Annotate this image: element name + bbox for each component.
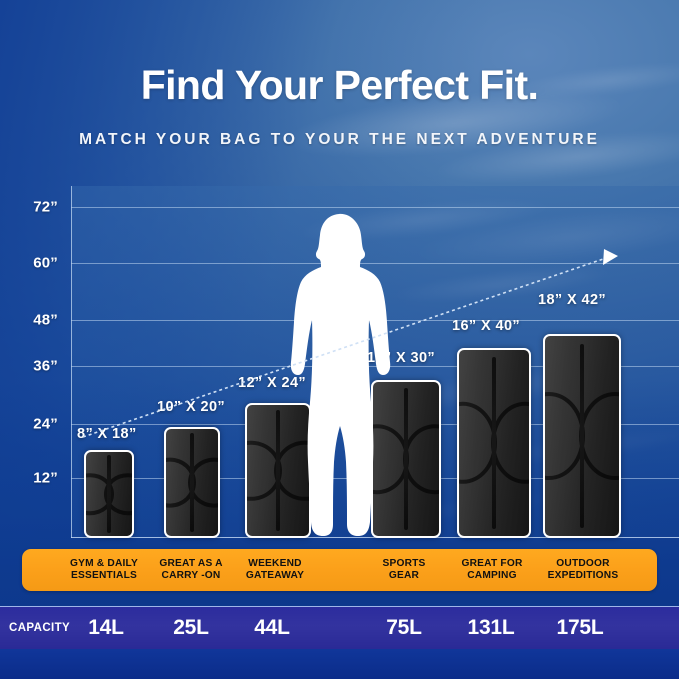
- bag-sheen-4: [459, 350, 529, 536]
- y-axis-tick-3: 36”: [33, 358, 58, 375]
- category-line2-0: ESSENTIALS: [71, 570, 137, 583]
- category-line1-5: OUTDOOR: [556, 558, 609, 571]
- capacity-band: CAPACITY 14L25L44L75L131L175L: [0, 606, 679, 650]
- bag-size-label-3: 14” X 30”: [367, 350, 435, 366]
- bag-bar-1[interactable]: [164, 427, 220, 538]
- infographic-root: Find Your Perfect Fit. MATCH YOUR BAG TO…: [0, 0, 679, 679]
- y-axis-tick-4: 24”: [33, 416, 58, 433]
- capacity-label: CAPACITY: [9, 622, 70, 634]
- y-axis-tick-1: 60”: [33, 255, 58, 272]
- bag-size-label-5: 18” X 42”: [538, 292, 606, 308]
- bag-size-label-4: 16” X 40”: [452, 318, 520, 334]
- y-axis-labels: 72”60”48”36”24”12”: [0, 186, 66, 538]
- category-line1-2: WEEKEND: [248, 558, 301, 571]
- bag-size-label-1: 10” X 20”: [157, 399, 225, 415]
- category-cell-5[interactable]: OUTDOOREXPEDITIONS: [528, 549, 638, 591]
- category-line1-4: GREAT FOR: [461, 558, 522, 571]
- category-line1-3: SPORTS: [382, 558, 425, 571]
- bag-size-label-2: 12” X 24”: [238, 375, 306, 391]
- category-line2-3: GEAR: [389, 570, 419, 583]
- bag-size-label-0: 8” X 18”: [77, 426, 137, 442]
- category-cell-2[interactable]: WEEKENDGATEAWAY: [220, 549, 330, 591]
- category-line2-2: GATEAWAY: [246, 570, 304, 583]
- capacity-value-0: 14L: [88, 616, 124, 640]
- bag-sheen-1: [166, 429, 218, 536]
- capacity-value-5: 175L: [556, 616, 603, 640]
- bar-chart: 8” X 18”10” X 20”12” X 24”14” X 30”16” X…: [71, 186, 679, 538]
- gridline-1: [71, 263, 679, 264]
- category-line2-4: CAMPING: [467, 570, 517, 583]
- bag-sheen-3: [373, 382, 439, 536]
- bag-bar-4[interactable]: [457, 348, 531, 538]
- bag-sheen-2: [247, 405, 309, 536]
- category-line1-1: GREAT AS A: [159, 558, 222, 571]
- bag-sheen-0: [86, 452, 132, 536]
- bag-bar-5[interactable]: [543, 334, 621, 538]
- bag-bar-0[interactable]: [84, 450, 134, 538]
- y-axis-line: [71, 186, 72, 538]
- page-subtitle: MATCH YOUR BAG TO YOUR THE NEXT ADVENTUR…: [0, 131, 679, 149]
- category-bar: GYM & DAILYESSENTIALSGREAT AS ACARRY -ON…: [22, 549, 657, 591]
- bag-sheen-5: [545, 336, 619, 536]
- y-axis-tick-0: 72”: [33, 199, 58, 216]
- capacity-value-1: 25L: [173, 616, 209, 640]
- page-title: Find Your Perfect Fit.: [0, 62, 679, 109]
- bag-bar-3[interactable]: [371, 380, 441, 538]
- bag-bar-2[interactable]: [245, 403, 311, 538]
- gridline-0: [71, 207, 679, 208]
- capacity-value-3: 75L: [386, 616, 422, 640]
- y-axis-tick-5: 12”: [33, 470, 58, 487]
- category-line2-1: CARRY -ON: [162, 570, 221, 583]
- capacity-value-4: 131L: [467, 616, 514, 640]
- capacity-value-2: 44L: [254, 616, 290, 640]
- category-line1-0: GYM & DAILY: [70, 558, 138, 571]
- gridline-2: [71, 320, 679, 321]
- category-line2-5: EXPEDITIONS: [548, 570, 619, 583]
- y-axis-tick-2: 48”: [33, 312, 58, 329]
- footer-strip: [0, 649, 679, 679]
